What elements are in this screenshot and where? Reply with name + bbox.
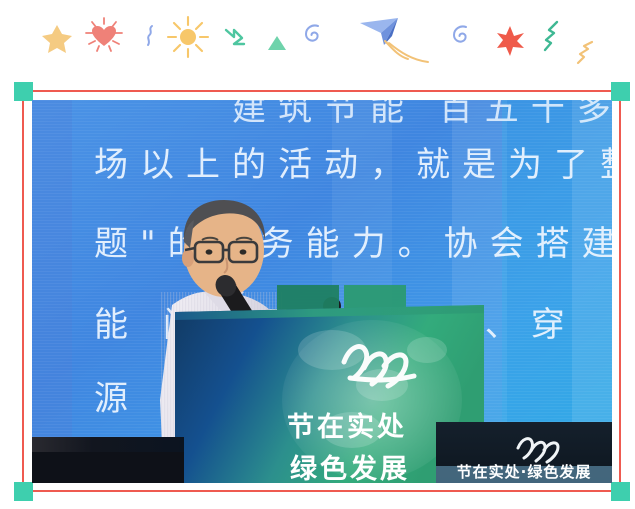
podium-slogan-line1: 节在实处 <box>287 411 407 443</box>
svg-text:场以上的活动，就是为了整合: 场以上的活动，就是为了整合 <box>94 145 612 185</box>
squiggle-doodle-blue <box>148 26 152 45</box>
svg-text:题"的服务能力。协会搭建的节: 题"的服务能力。协会搭建的节 <box>94 224 612 264</box>
heart-icon <box>92 26 116 46</box>
zigzag-doodle-green2 <box>545 22 557 50</box>
spiral-doodle-right <box>454 26 466 41</box>
conference-speaker-photo: 建筑节能 百五十多家企 场以上的活动，就是为了整合 题"的服务能力。协会搭建的节… <box>32 100 612 483</box>
decoration-band <box>0 0 635 80</box>
paper-plane-doodle <box>360 18 398 45</box>
sun-doodle <box>168 17 208 57</box>
zigzag-doodle-green <box>226 30 244 44</box>
podium-slogan-line2: 绿色发展 <box>290 453 410 483</box>
frame-corner-bottom-left <box>14 482 33 501</box>
star-doodle-red <box>497 26 524 56</box>
frame-line-bottom <box>22 490 620 492</box>
frame-line-top <box>22 90 620 92</box>
star-doodle <box>42 25 72 53</box>
triangle-doodle <box>268 36 286 50</box>
frame-corner-top-left <box>14 82 33 101</box>
page-root: 建筑节能 百五十多家企 场以上的活动，就是为了整合 题"的服务能力。协会搭建的节… <box>0 0 635 509</box>
banner-text: 节在实处·绿色发展 <box>457 463 592 481</box>
frame-line-right <box>619 90 621 491</box>
frame-corner-top-right <box>611 82 630 101</box>
frame-corner-bottom-right <box>611 482 630 501</box>
svg-text:建筑节能 百五十多家企: 建筑节能 百五十多家企 <box>232 100 612 129</box>
zigzag-doodle-orange <box>578 42 592 63</box>
frame-line-left <box>22 90 24 491</box>
spiral-doodle-left <box>306 25 318 40</box>
